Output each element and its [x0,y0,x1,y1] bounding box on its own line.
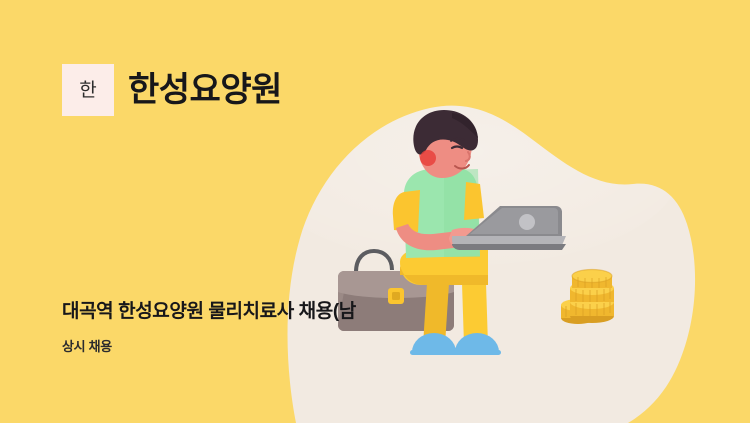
job-posting-title: 대곡역 한성요양원 물리치료사 채용(남 [62,300,422,324]
org-initial-letter: 한 [79,81,96,100]
coin-stack-main [570,270,614,324]
job-posting-card: 한 한성요양원 대곡역 한성요양원 물리치료사 채용(남 상시 채용 [0,0,750,423]
laptop-logo [519,214,535,230]
organization-name: 한성요양원 [128,73,282,107]
job-posting-subtitle: 상시 채용 [62,339,422,355]
posting-text-block: 대곡역 한성요양원 물리치료사 채용(남 상시 채용 [62,300,422,354]
blush [420,150,436,166]
org-initial-badge: 한 [62,64,114,116]
organization-header: 한 한성요양원 [62,64,282,116]
